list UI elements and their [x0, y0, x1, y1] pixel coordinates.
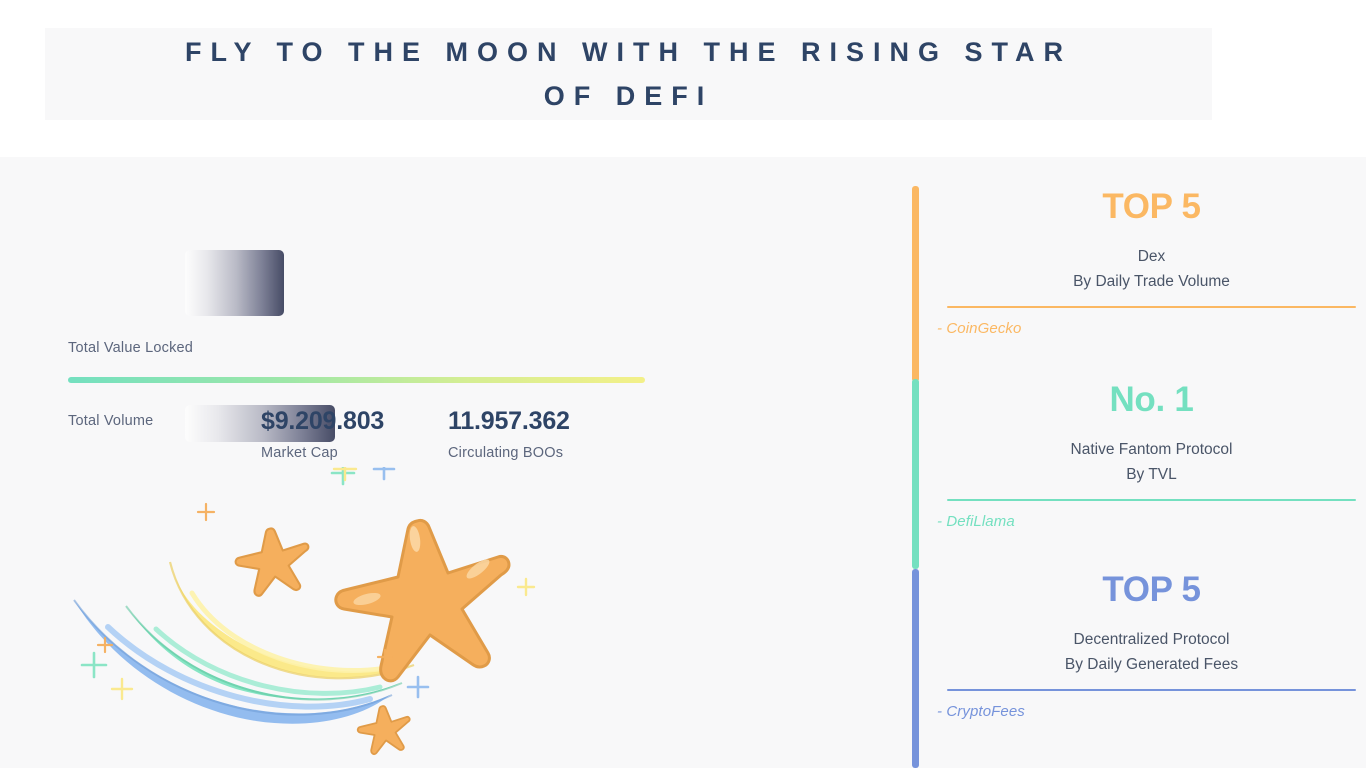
market-cap-value: $9.209.803 [261, 405, 384, 437]
rank-card-rule [947, 499, 1356, 501]
rank-card-heading: TOP 5 [937, 569, 1366, 611]
main-panel: Total Value Locked Total Volume $9.209.8… [0, 157, 1366, 768]
total-value-locked-label: Total Value Locked [68, 340, 193, 356]
headline-banner: FLY TO THE MOON WITH THE RISING STAR OF … [45, 28, 1212, 120]
stat-market-cap: $9.209.803 Market Cap [261, 405, 384, 461]
rank-card-accent-bar [912, 569, 919, 768]
market-cap-label: Market Cap [261, 445, 384, 461]
gradient-divider [68, 377, 645, 383]
rank-card-subtitle-line1: Decentralized Protocol [937, 627, 1366, 652]
rank-card-subtitle-line1: Dex [937, 244, 1366, 269]
rank-card-heading: No. 1 [937, 379, 1366, 421]
rank-card-subtitle-line2: By Daily Generated Fees [937, 652, 1366, 677]
rank-card-heading: TOP 5 [937, 186, 1366, 228]
stat-total-volume: Total Volume [68, 413, 153, 429]
rank-card-subtitle-line2: By TVL [937, 462, 1366, 487]
rank-card-source: - CryptoFees [937, 703, 1366, 720]
stat-circulating-boos: 11.957.362 Circulating BOOs [448, 405, 570, 461]
rank-card-subtitle-line2: By Daily Trade Volume [937, 269, 1366, 294]
rank-card-source: - DefiLlama [937, 513, 1366, 530]
rank-card-subtitle-line1: Native Fantom Protocol [937, 437, 1366, 462]
rank-card-rule [947, 306, 1356, 308]
rank-card-source: - CoinGecko [937, 320, 1366, 337]
total-value-locked-loading-placeholder [185, 250, 284, 316]
circulating-boos-value: 11.957.362 [448, 405, 570, 437]
shooting-star-illustration [60, 467, 580, 767]
rank-card-decentralized-protocol[interactable]: TOP 5 Decentralized Protocol By Daily Ge… [912, 569, 1366, 768]
rank-card-accent-bar [912, 186, 919, 382]
rank-card-native-fantom[interactable]: No. 1 Native Fantom Protocol By TVL - De… [912, 379, 1366, 569]
circulating-boos-label: Circulating BOOs [448, 445, 570, 461]
rank-card-dex[interactable]: TOP 5 Dex By Daily Trade Volume - CoinGe… [912, 186, 1366, 386]
total-volume-label: Total Volume [68, 413, 153, 429]
rank-cards-column: TOP 5 Dex By Daily Trade Volume - CoinGe… [912, 157, 1366, 768]
rank-card-accent-bar [912, 379, 919, 569]
headline-line-2: OF DEFI [544, 74, 714, 118]
headline-line-1: FLY TO THE MOON WITH THE RISING STAR [185, 30, 1072, 74]
rank-card-rule [947, 689, 1356, 691]
shooting-star-icon [60, 467, 580, 767]
